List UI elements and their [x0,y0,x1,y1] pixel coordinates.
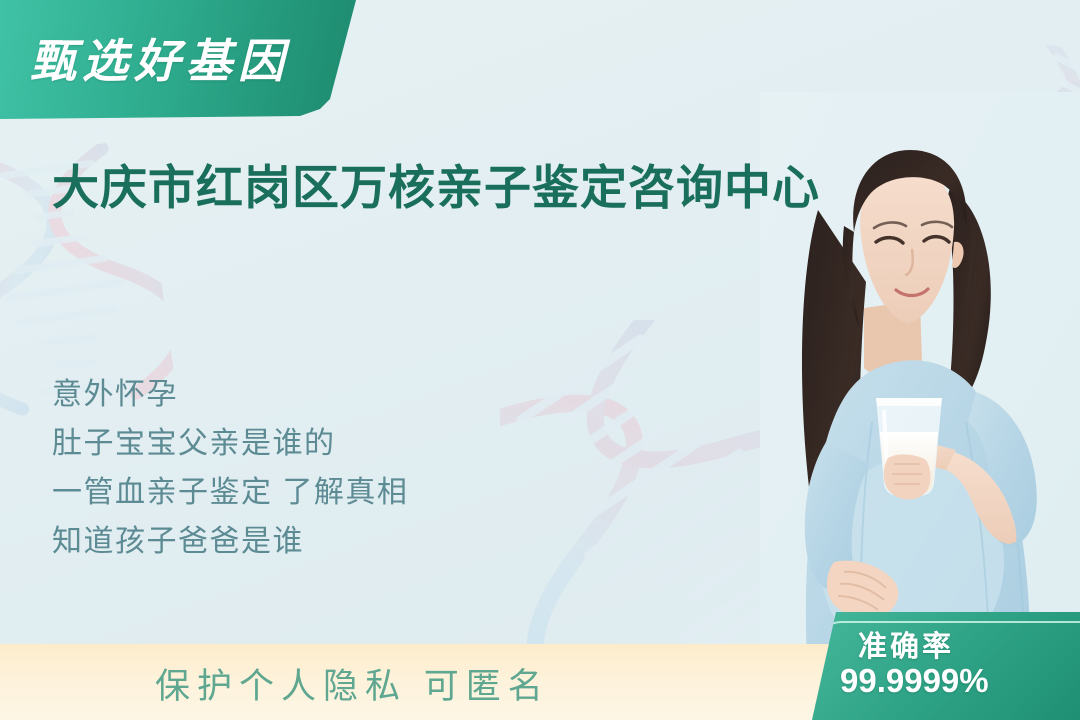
brand-logo-text: 甄选好基因 [30,25,290,91]
copy-line: 一管血亲子鉴定 了解真相 [52,468,592,517]
copy-line: 肚子宝宝父亲是谁的 [52,419,592,468]
page-title: 大庆市红岗区万核亲子鉴定咨询中心 [52,158,852,217]
promo-poster: 甄选好基因 大庆市红岗区万核亲子鉴定咨询中心 意外怀孕 肚子宝宝父亲是谁的 一管… [0,0,1080,720]
copy-line: 意外怀孕 [52,370,592,419]
copy-line: 知道孩子爸爸是谁 [52,517,592,566]
brand-logo-banner: 甄选好基因 [0,0,356,119]
accuracy-badge: 准确率 99.9999% [812,612,1080,720]
privacy-footer-text: 保护个人隐私 可匿名 [155,658,550,709]
accuracy-badge-label: 准确率 [858,632,954,663]
marketing-copy-block: 意外怀孕 肚子宝宝父亲是谁的 一管血亲子鉴定 了解真相 知道孩子爸爸是谁 [52,370,592,566]
accuracy-badge-value: 99.9999% [840,663,989,700]
accuracy-badge-content: 准确率 99.9999% [812,612,1080,720]
